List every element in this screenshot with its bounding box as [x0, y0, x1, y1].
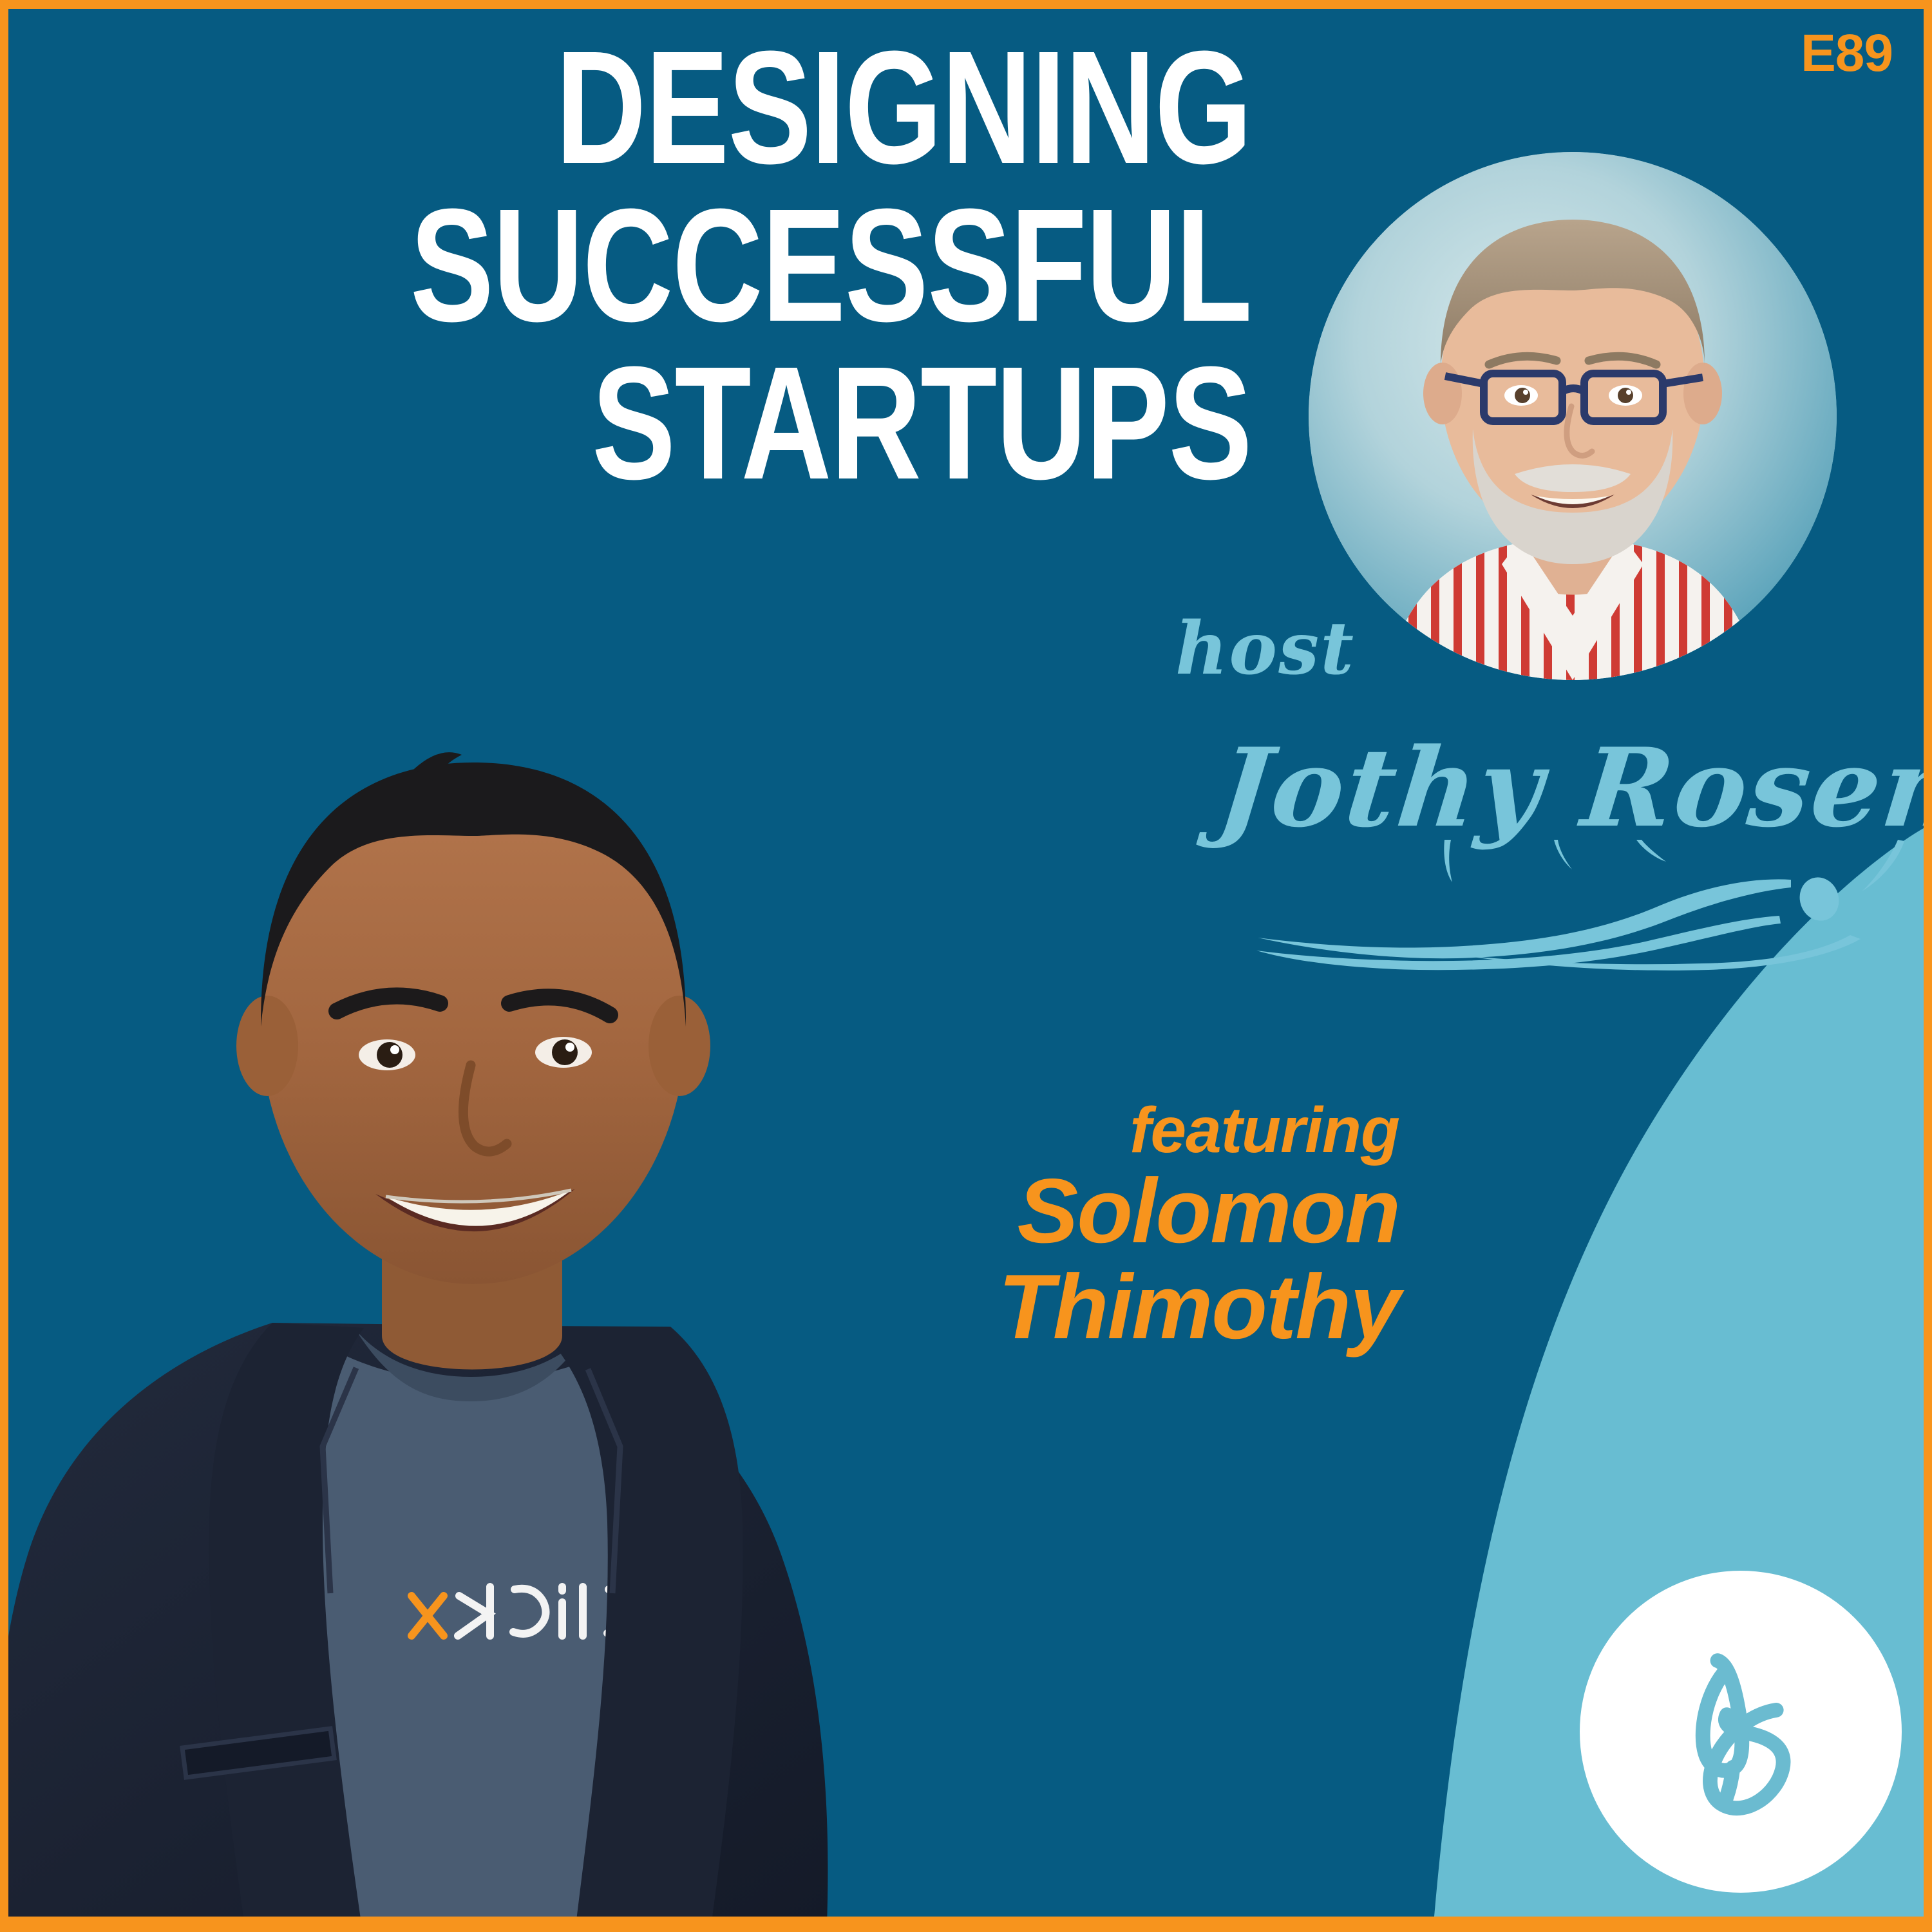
title-line-1: DESIGNING	[302, 28, 1251, 186]
host-label: host	[1175, 607, 1355, 691]
swimmer-wave-icon	[1251, 840, 1921, 994]
guest-name-line-1: Solomon	[833, 1163, 1399, 1259]
host-avatar-photo	[1309, 152, 1837, 680]
guest-name-line-2: Thimothy	[833, 1259, 1399, 1355]
featuring-label: featuring	[833, 1097, 1399, 1163]
title-line-3: STARTUPS	[302, 344, 1251, 502]
js-monogram-icon	[1625, 1616, 1857, 1848]
js-monogram-logo[interactable]	[1580, 1571, 1902, 1893]
host-name: Jothy Rosenberg	[1213, 724, 1924, 851]
podcast-cover-art: DESIGNING SUCCESSFUL STARTUPS E89	[0, 0, 1932, 1932]
swimmer-wave-glyph	[1251, 840, 1921, 994]
title-line-2: SUCCESSFUL	[302, 186, 1251, 344]
cover-background: DESIGNING SUCCESSFUL STARTUPS E89	[8, 9, 1924, 1917]
episode-badge: E89	[1801, 23, 1893, 84]
host-portrait-illustration	[1309, 152, 1837, 680]
page-title: DESIGNING SUCCESSFUL STARTUPS	[34, 28, 1251, 502]
featuring-block: featuring Solomon Thimothy	[833, 1097, 1399, 1355]
